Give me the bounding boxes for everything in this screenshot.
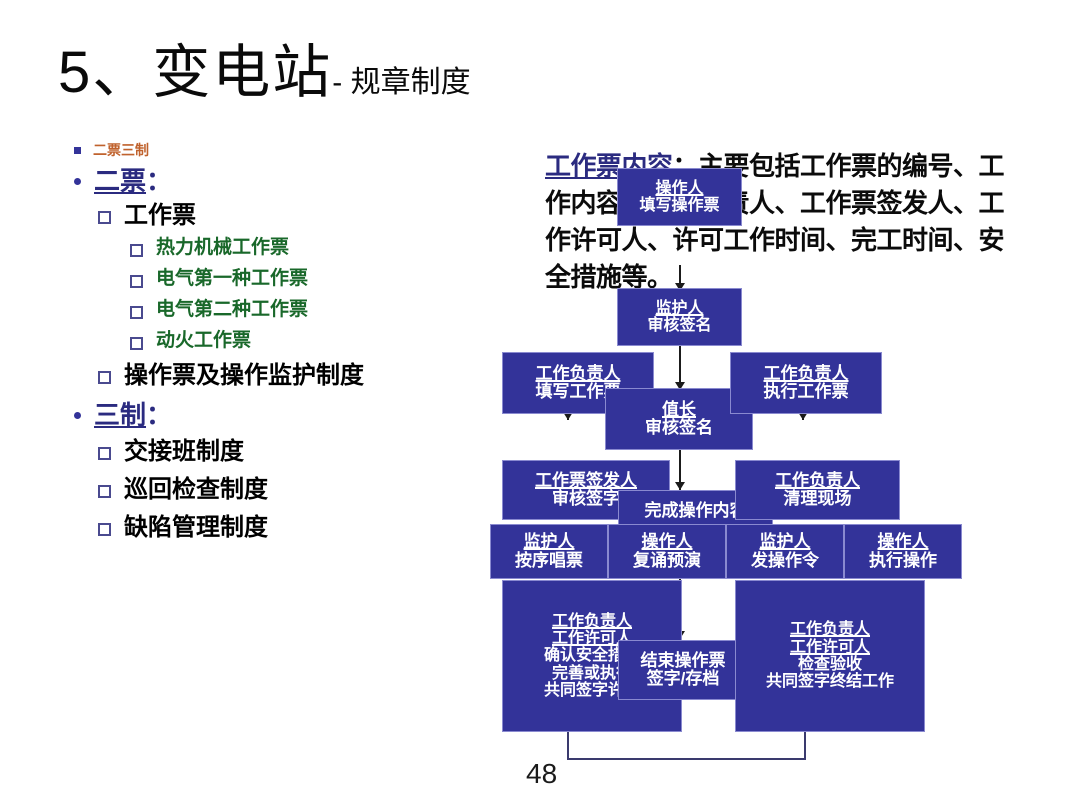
list-item-label: 热力机械工作票 [156, 233, 289, 263]
outline-list: 二票三制 二票： 工作票 热力机械工作票 电气第一种工作票 电气第二种工作票 动… [74, 138, 504, 545]
round-bullet-icon [74, 178, 81, 185]
connector-b2-b4 [679, 340, 681, 388]
operation-ticket-flowchart: 操作人 填写操作票 监护人 审核签名 工作负责人 填写工作票 值长 审核签名 工… [480, 140, 1080, 780]
page-number: 48 [526, 758, 557, 790]
flow-box-line: 完成操作内容 [645, 502, 747, 520]
list-item: 操作票及操作监护制度 [98, 360, 504, 392]
flow-box-line: 审核签名 [647, 317, 711, 334]
hollow-square-bullet-icon [98, 371, 111, 384]
flow-box-line: 工作负责人 [552, 613, 632, 630]
flow-box-line: 监护人 [524, 533, 575, 551]
outline-topic-label: 二票三制 [93, 138, 149, 162]
flow-box-line: 监护人 [655, 300, 703, 317]
flow-box-inspection-acceptance[interactable]: 工作负责人 工作许可人 检查验收 共同签字终结工作 [735, 580, 925, 732]
title-number: 5、 [58, 40, 152, 105]
flow-box-line: 审核签名 [645, 419, 713, 437]
flow-box-operator-execute[interactable]: 操作人 执行操作 [844, 524, 962, 579]
group-two-colon: ： [146, 400, 172, 430]
flow-box-line: 复诵预演 [633, 552, 701, 570]
flow-box-line: 工作许可人 [790, 639, 870, 656]
flow-box-line: 审核签字 [552, 490, 620, 508]
flow-box-line: 工作负责人 [536, 365, 621, 383]
flow-box-end-ticket-archive[interactable]: 结束操作票 签字/存档 [618, 640, 748, 700]
list-item-label: 动火工作票 [156, 326, 251, 356]
flow-box-line: 操作人 [878, 533, 929, 551]
list-item: 缺陷管理制度 [98, 512, 504, 544]
round-bullet-icon [74, 412, 81, 419]
hollow-square-bullet-icon [130, 337, 143, 350]
list-item: 工作票 [98, 200, 504, 232]
flow-box-line: 工作负责人 [775, 472, 860, 490]
flow-box-operator-fill-ticket[interactable]: 操作人 填写操作票 [617, 168, 742, 226]
flow-box-line: 检查验收 [798, 656, 862, 673]
connector-return-path [567, 730, 806, 760]
flow-box-line: 执行工作票 [764, 383, 849, 401]
list-item: 巡回检查制度 [98, 474, 504, 506]
flow-box-line: 工作负责人 [764, 365, 849, 383]
list-item: 电气第一种工作票 [130, 264, 504, 294]
flow-box-line: 清理现场 [784, 490, 852, 508]
flow-box-line: 按序唱票 [515, 552, 583, 570]
hollow-square-bullet-icon [98, 485, 111, 498]
list-item: 电气第二种工作票 [130, 295, 504, 325]
flow-box-line: 操作人 [642, 533, 693, 551]
group-two-heading: 三制： [94, 398, 172, 432]
group-two-label: 三制 [94, 400, 146, 430]
hollow-square-bullet-icon [98, 211, 111, 224]
flow-box-line: 签字/存档 [647, 670, 720, 688]
list-item-group-two: 三制： [74, 398, 504, 432]
list-item-label: 巡回检查制度 [124, 474, 268, 506]
arrowhead-icon [675, 482, 685, 490]
flow-box-supervisor-call-ticket[interactable]: 监护人 按序唱票 [490, 524, 608, 579]
title-suffix: - 规章制度 [332, 66, 470, 99]
slide-canvas: 5、变电站- 规章制度 二票三制 二票： 工作票 热力机械工作票 电气第一种工作… [0, 0, 1080, 809]
title-main: 变电站 [152, 40, 332, 105]
flow-box-line: 执行操作 [869, 552, 937, 570]
group-one-heading: 二票： [94, 164, 172, 198]
flow-box-line: 填写操作票 [639, 197, 719, 214]
list-item: 交接班制度 [98, 436, 504, 468]
hollow-square-bullet-icon [130, 244, 143, 257]
flow-box-supervisor-review-sign[interactable]: 监护人 审核签名 [617, 288, 742, 346]
list-item-label: 交接班制度 [124, 436, 244, 468]
page-title: 5、变电站- 规章制度 [58, 44, 471, 102]
hollow-square-bullet-icon [98, 523, 111, 536]
list-item: 动火工作票 [130, 326, 504, 356]
list-item-label: 电气第一种工作票 [156, 264, 308, 294]
flow-box-line: 共同签字终结工作 [766, 673, 894, 690]
hollow-square-bullet-icon [130, 275, 143, 288]
flow-box-line: 值长 [662, 401, 696, 419]
hollow-square-bullet-icon [98, 447, 111, 460]
list-item-label: 电气第二种工作票 [156, 295, 308, 325]
group-one-colon: ： [146, 166, 172, 196]
list-item-label: 缺陷管理制度 [124, 512, 268, 544]
flow-box-line: 发操作令 [751, 552, 819, 570]
flow-box-line: 结束操作票 [641, 652, 726, 670]
list-item-group-one: 二票： [74, 164, 504, 198]
list-item: 热力机械工作票 [130, 233, 504, 263]
list-item-label: 操作票及操作监护制度 [124, 360, 364, 392]
square-bullet-icon [74, 147, 81, 154]
flow-box-operator-repeat-rehearse[interactable]: 操作人 复诵预演 [608, 524, 726, 579]
group-one-label: 二票 [94, 166, 146, 196]
flow-box-leader-execute-workticket[interactable]: 工作负责人 执行工作票 [730, 352, 882, 414]
list-item-topic: 二票三制 [74, 138, 504, 162]
flow-box-line: 操作人 [655, 180, 703, 197]
flow-box-line: 工作负责人 [790, 621, 870, 638]
flow-box-supervisor-issue-order[interactable]: 监护人 发操作令 [726, 524, 844, 579]
hollow-square-bullet-icon [130, 306, 143, 319]
flow-box-leader-clear-site[interactable]: 工作负责人 清理现场 [735, 460, 900, 520]
flow-box-line: 监护人 [760, 533, 811, 551]
flow-box-line: 工作票签发人 [535, 472, 637, 490]
list-item-label: 工作票 [124, 200, 196, 232]
